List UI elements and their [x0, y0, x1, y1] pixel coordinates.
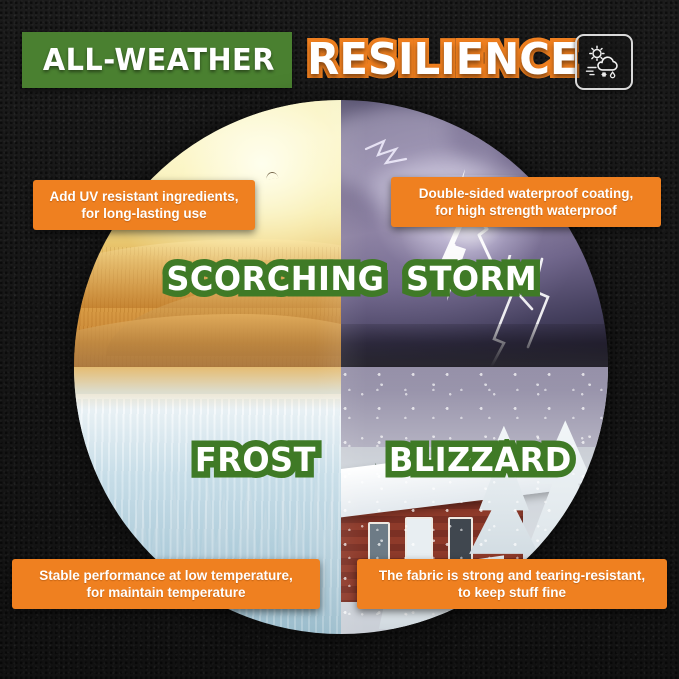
label-scorching: SCORCHING [166, 262, 384, 295]
callout-waterproof: Double-sided waterproof coating, for hig… [391, 177, 661, 227]
callout-low-temperature: Stable performance at low temperature, f… [12, 559, 320, 609]
callout-line-2: for maintain temperature [24, 584, 308, 601]
label-frost: FROST [195, 443, 316, 476]
all-weather-badge: ALL-WEATHER [22, 32, 292, 88]
header-banner: ALL-WEATHER RESILIENCE [22, 32, 599, 88]
label-blizzard: BLIZZARD [389, 443, 572, 476]
callout-line-2: for high strength waterproof [403, 202, 649, 219]
sun-cloud-wind-snow-rain-icon [584, 43, 624, 81]
callout-line-1: Stable performance at low temperature, [24, 567, 308, 584]
callout-uv-resistance: Add UV resistant ingredients, for long-l… [33, 180, 255, 230]
quadrant-storm [341, 100, 608, 367]
infographic-canvas: ALL-WEATHER RESILIENCE [0, 0, 679, 679]
resilience-text: RESILIENCE [307, 38, 578, 82]
callout-line-1: Add UV resistant ingredients, [45, 188, 243, 205]
callout-line-1: Double-sided waterproof coating, [403, 185, 649, 202]
frost-sand-blend [74, 367, 341, 410]
callout-line-1: The fabric is strong and tearing-resista… [369, 567, 655, 584]
storm-treeline [341, 324, 608, 367]
all-weather-text: ALL-WEATHER [43, 43, 275, 78]
label-storm: STORM [406, 262, 537, 295]
callout-line-2: to keep stuff fine [369, 584, 655, 601]
callout-tear-resistance: The fabric is strong and tearing-resista… [357, 559, 667, 609]
weather-badge [575, 34, 633, 90]
resilience-title: RESILIENCE [290, 32, 600, 88]
quadrant-scorching [74, 100, 341, 367]
callout-line-2: for long-lasting use [45, 205, 243, 222]
